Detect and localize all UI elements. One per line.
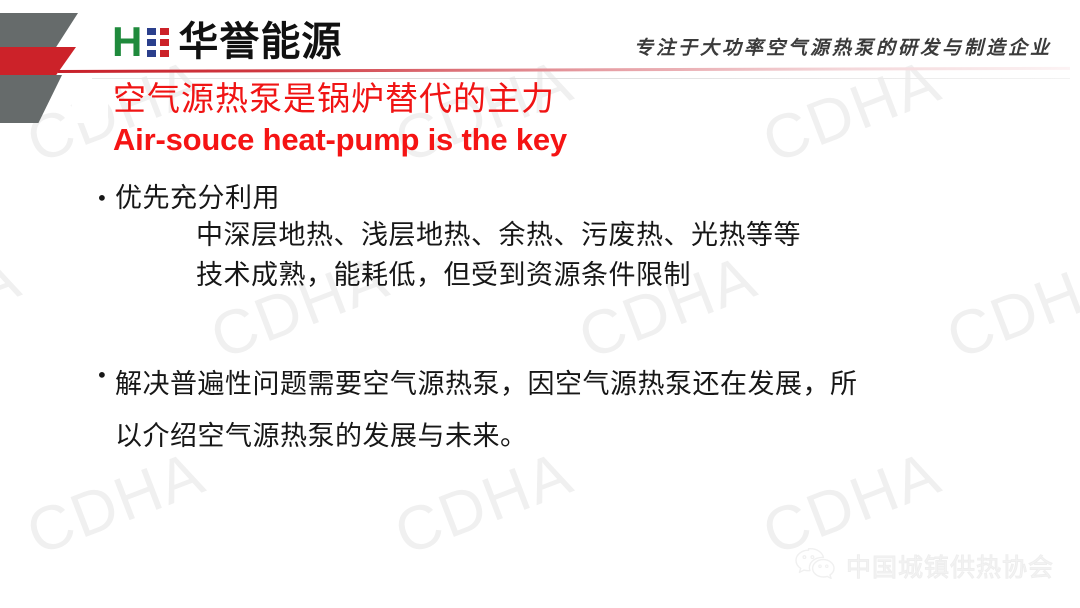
bullet-text: 优先充分利用 [115, 182, 280, 216]
logo-company-name: 华誉能源 [178, 22, 342, 62]
bullet-item-2: • 解决普遍性问题需要空气源热泵，因空气源热泵还在发展，所 [96, 359, 1036, 412]
logo-dot-1 [147, 28, 156, 35]
slide-title-block: 空气源热泵是锅炉替代的主力 Air-souce heat-pump is the… [113, 80, 567, 158]
bullet-1-subline-1: 中深层地热、浅层地热、余热、污废热、光热等等 [196, 216, 1036, 257]
logo-dot-4 [160, 39, 169, 46]
bullet-text: 解决普遍性问题需要空气源热泵，因空气源热泵还在发展，所 [115, 359, 858, 412]
brand-tagline: 专注于大功率空气源热泵的研发与制造企业 [634, 33, 1052, 60]
bullet-marker: • [96, 182, 115, 214]
wechat-watermark: 中国城镇供热协会 [793, 547, 1054, 584]
logo-dot-6 [160, 50, 169, 57]
logo-letter-h: H [112, 21, 141, 63]
wechat-icon [793, 547, 837, 584]
bullet-item-1: • 优先充分利用 [96, 182, 1036, 216]
bullet-1-subline-2: 技术成熟，能耗低，但受到资源条件限制 [196, 256, 1036, 297]
logo-dot-2 [160, 28, 169, 35]
logo-dot-grid [147, 28, 169, 57]
body-spacer [96, 297, 1036, 359]
logo-dot-3 [147, 39, 156, 46]
decor-band-gray-top [0, 13, 78, 47]
logo-dot-5 [147, 50, 156, 57]
bullet-2-continuation: 以介绍空气源热泵的发展与未来。 [115, 411, 1036, 464]
company-logo: H 华誉能源 [112, 16, 342, 68]
wechat-org-name: 中国城镇供热协会 [846, 548, 1054, 584]
watermark-text: CDHA [753, 45, 950, 177]
slide-body: • 优先充分利用 中深层地热、浅层地热、余热、污废热、光热等等 技术成熟，能耗低… [96, 182, 1036, 464]
slide-canvas: CDHACDHACDHACDHACDHACDHACDHACDHACDHACDHA… [0, 0, 1080, 608]
slide-title-en: Air-souce heat-pump is the key [113, 121, 567, 158]
watermark-text: CDHA [0, 241, 30, 373]
decor-band-gray-bottom [0, 75, 62, 123]
bullet-marker: • [96, 359, 115, 391]
slide-title-cn: 空气源热泵是锅炉替代的主力 [113, 80, 567, 119]
